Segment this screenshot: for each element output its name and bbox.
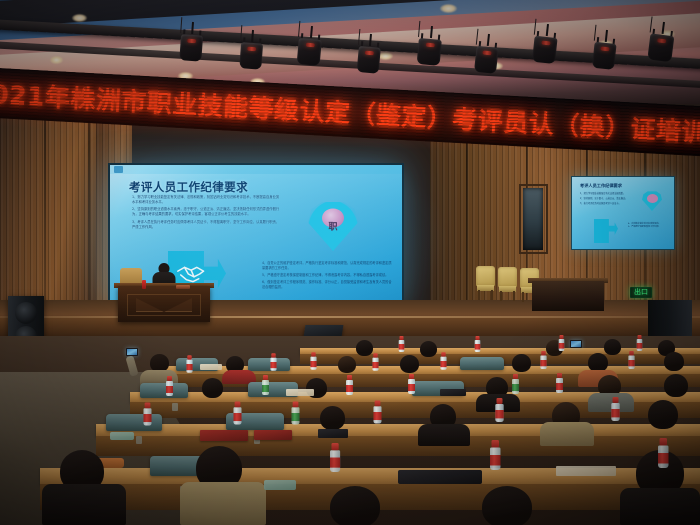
downlight-icon	[50, 56, 63, 64]
downlight-icon	[440, 4, 457, 13]
attendee-shoulders	[418, 424, 470, 446]
secondary-item: 5、严格遵守保密制度和工作纪律。	[628, 226, 672, 229]
downlight-icon	[72, 14, 87, 22]
doorway	[523, 188, 543, 250]
water-bottle	[440, 352, 446, 370]
slide-body-right: 4、自觉公正的维护鉴定考评，严格执行鉴定考评标准和规范，认真完成规定的考评和鉴定…	[262, 261, 394, 292]
seat-back	[106, 414, 162, 431]
attendee-head	[512, 354, 531, 372]
seat-number-badge	[172, 403, 178, 411]
secondary-display-title: 考评人员工作纪律要求	[580, 183, 622, 189]
water-bottle	[291, 402, 299, 425]
seat-back	[140, 383, 188, 398]
water-bottle	[373, 401, 381, 424]
slide-item: 3、考评人员在执行考评任务时应佩带考评人员证卡，不得擅离职守、坚守工作岗位，认真…	[132, 220, 282, 230]
stage-light-icon	[239, 29, 264, 72]
water-bottle	[399, 336, 405, 352]
desk-tablet	[398, 470, 482, 484]
stage-light-icon	[179, 21, 204, 64]
seat-back	[460, 357, 504, 370]
gold-chair	[476, 266, 495, 300]
seat-back	[248, 358, 290, 371]
secondary-item: 2、坚持原则、忠于职守、公道正派、清正廉洁。	[580, 197, 632, 200]
photo-scene: 出口 考评人员工作纪律要求 1、努力学习职业技能鉴定有关法律、法规和政策，刻苦钻…	[0, 0, 700, 525]
face-mask	[110, 432, 134, 440]
phone-camera	[570, 340, 582, 348]
secondary-display: 考评人员工作纪律要求 1、努力学习职业技能鉴定有关法律法规政策。 2、坚持原则、…	[571, 176, 675, 250]
stage-light-icon	[592, 29, 618, 73]
exit-sign: 出口	[630, 287, 652, 298]
slide-logo-icon	[114, 166, 123, 173]
water-bottle	[186, 355, 192, 373]
water-bottle	[310, 352, 316, 370]
desk-booklet	[254, 430, 292, 440]
water-bottle	[270, 353, 276, 371]
stage-light-icon	[296, 25, 323, 71]
attendee-head	[664, 352, 684, 371]
secondary-display-body: 1、努力学习职业技能鉴定有关法律法规政策。 2、坚持原则、忠于职守、公道正派、清…	[580, 192, 632, 207]
gold-chair	[498, 267, 517, 301]
podium-book	[176, 285, 190, 289]
slide-item: 2、坚持原则的职业道德水平素养，忠于职守、公道正派、清正廉洁、坚决抵制任何形式的…	[132, 207, 282, 217]
desk-paper	[200, 364, 222, 370]
pin-glyph: 职	[328, 220, 337, 233]
location-pin-icon: 职	[308, 201, 358, 251]
attendee-head	[400, 355, 419, 373]
desk-tablet	[440, 389, 466, 396]
slide-body-left: 1、努力学习职业技能鉴定有关法律、法规和政策，刻苦钻研业务知识和考评技术，不断提…	[132, 195, 282, 232]
secondary-display-body2: 4、自觉维护鉴定考评标准和规范。 5、严格遵守保密制度和工作纪律。	[628, 223, 672, 229]
secondary-arrow-icon	[594, 219, 618, 243]
water-bottle	[346, 375, 353, 395]
water-bottle	[512, 374, 519, 394]
desk-booklet	[200, 430, 248, 441]
attendee-head	[420, 341, 437, 357]
attendee-shoulders	[180, 482, 266, 525]
water-bottle	[637, 335, 643, 351]
water-bottle	[628, 351, 634, 369]
secondary-item: 1、努力学习职业技能鉴定有关法律法规政策。	[580, 192, 632, 195]
secondary-pin-inner	[647, 194, 658, 203]
water-bottle	[658, 438, 669, 468]
seat-number-badge	[136, 436, 142, 444]
slide-item: 1、努力学习职业技能鉴定有关法律、法规和政策，刻苦钻研业务知识和考评技术，不断提…	[132, 195, 282, 205]
water-bottle	[330, 443, 340, 472]
stage-light-icon	[416, 25, 443, 71]
attendee-head	[356, 340, 373, 356]
water-bottle	[475, 336, 481, 352]
attendee-shoulders	[42, 484, 126, 525]
podium	[118, 286, 210, 322]
water-bottle	[262, 375, 269, 395]
desk-paper	[286, 389, 314, 396]
table-flag	[142, 280, 146, 289]
attendee-head	[202, 378, 223, 398]
water-bottle	[611, 397, 619, 421]
attendee-head	[482, 486, 532, 525]
face-mask	[264, 480, 296, 490]
attendee-head	[320, 406, 345, 430]
slide-item: 5、严格遵守鉴定考核保密制度和工作纪律，不得泄露考评内容，不得私自透露考评成绩。	[262, 273, 394, 278]
slide-topbar	[110, 165, 402, 174]
water-bottle	[408, 374, 415, 394]
attendee-shoulders	[540, 422, 594, 446]
water-bottle	[233, 402, 241, 425]
water-bottle	[372, 353, 378, 371]
slide-item: 4、自觉公正的维护鉴定考评，严格执行鉴定考评标准和规范，认真完成规定的考评和鉴定…	[262, 261, 394, 271]
desk-paper	[556, 466, 616, 476]
water-bottle	[495, 398, 503, 422]
attendee-head	[604, 339, 621, 355]
stage-light-icon	[474, 33, 500, 77]
attendee-shoulders	[620, 488, 700, 525]
attendee-head	[664, 374, 688, 397]
water-bottle	[540, 351, 546, 369]
water-bottle	[166, 376, 173, 396]
stage-light-icon	[356, 33, 382, 77]
desk-phone	[318, 429, 348, 438]
attendee-head	[338, 356, 356, 373]
stage-desk	[532, 281, 604, 311]
slide-title: 考评人员工作纪律要求	[129, 179, 248, 195]
stage-light-icon	[531, 23, 558, 69]
water-bottle	[556, 373, 563, 393]
desk-row-front	[96, 436, 700, 456]
water-bottle	[490, 440, 501, 470]
attendee-head	[330, 486, 380, 525]
slide-item: 6、做到鉴定考评工作程序规范、操作标准、评分公正，自觉接受监督和考生及有关人员的…	[262, 280, 394, 290]
phone-camera	[126, 348, 138, 356]
attendee-head	[648, 400, 678, 429]
water-bottle	[143, 403, 151, 426]
secondary-item: 3、执行考评任务时应佩带考评人员证卡。	[580, 202, 632, 205]
exit-sign-label: 出口	[634, 289, 648, 296]
water-bottle	[559, 335, 565, 351]
